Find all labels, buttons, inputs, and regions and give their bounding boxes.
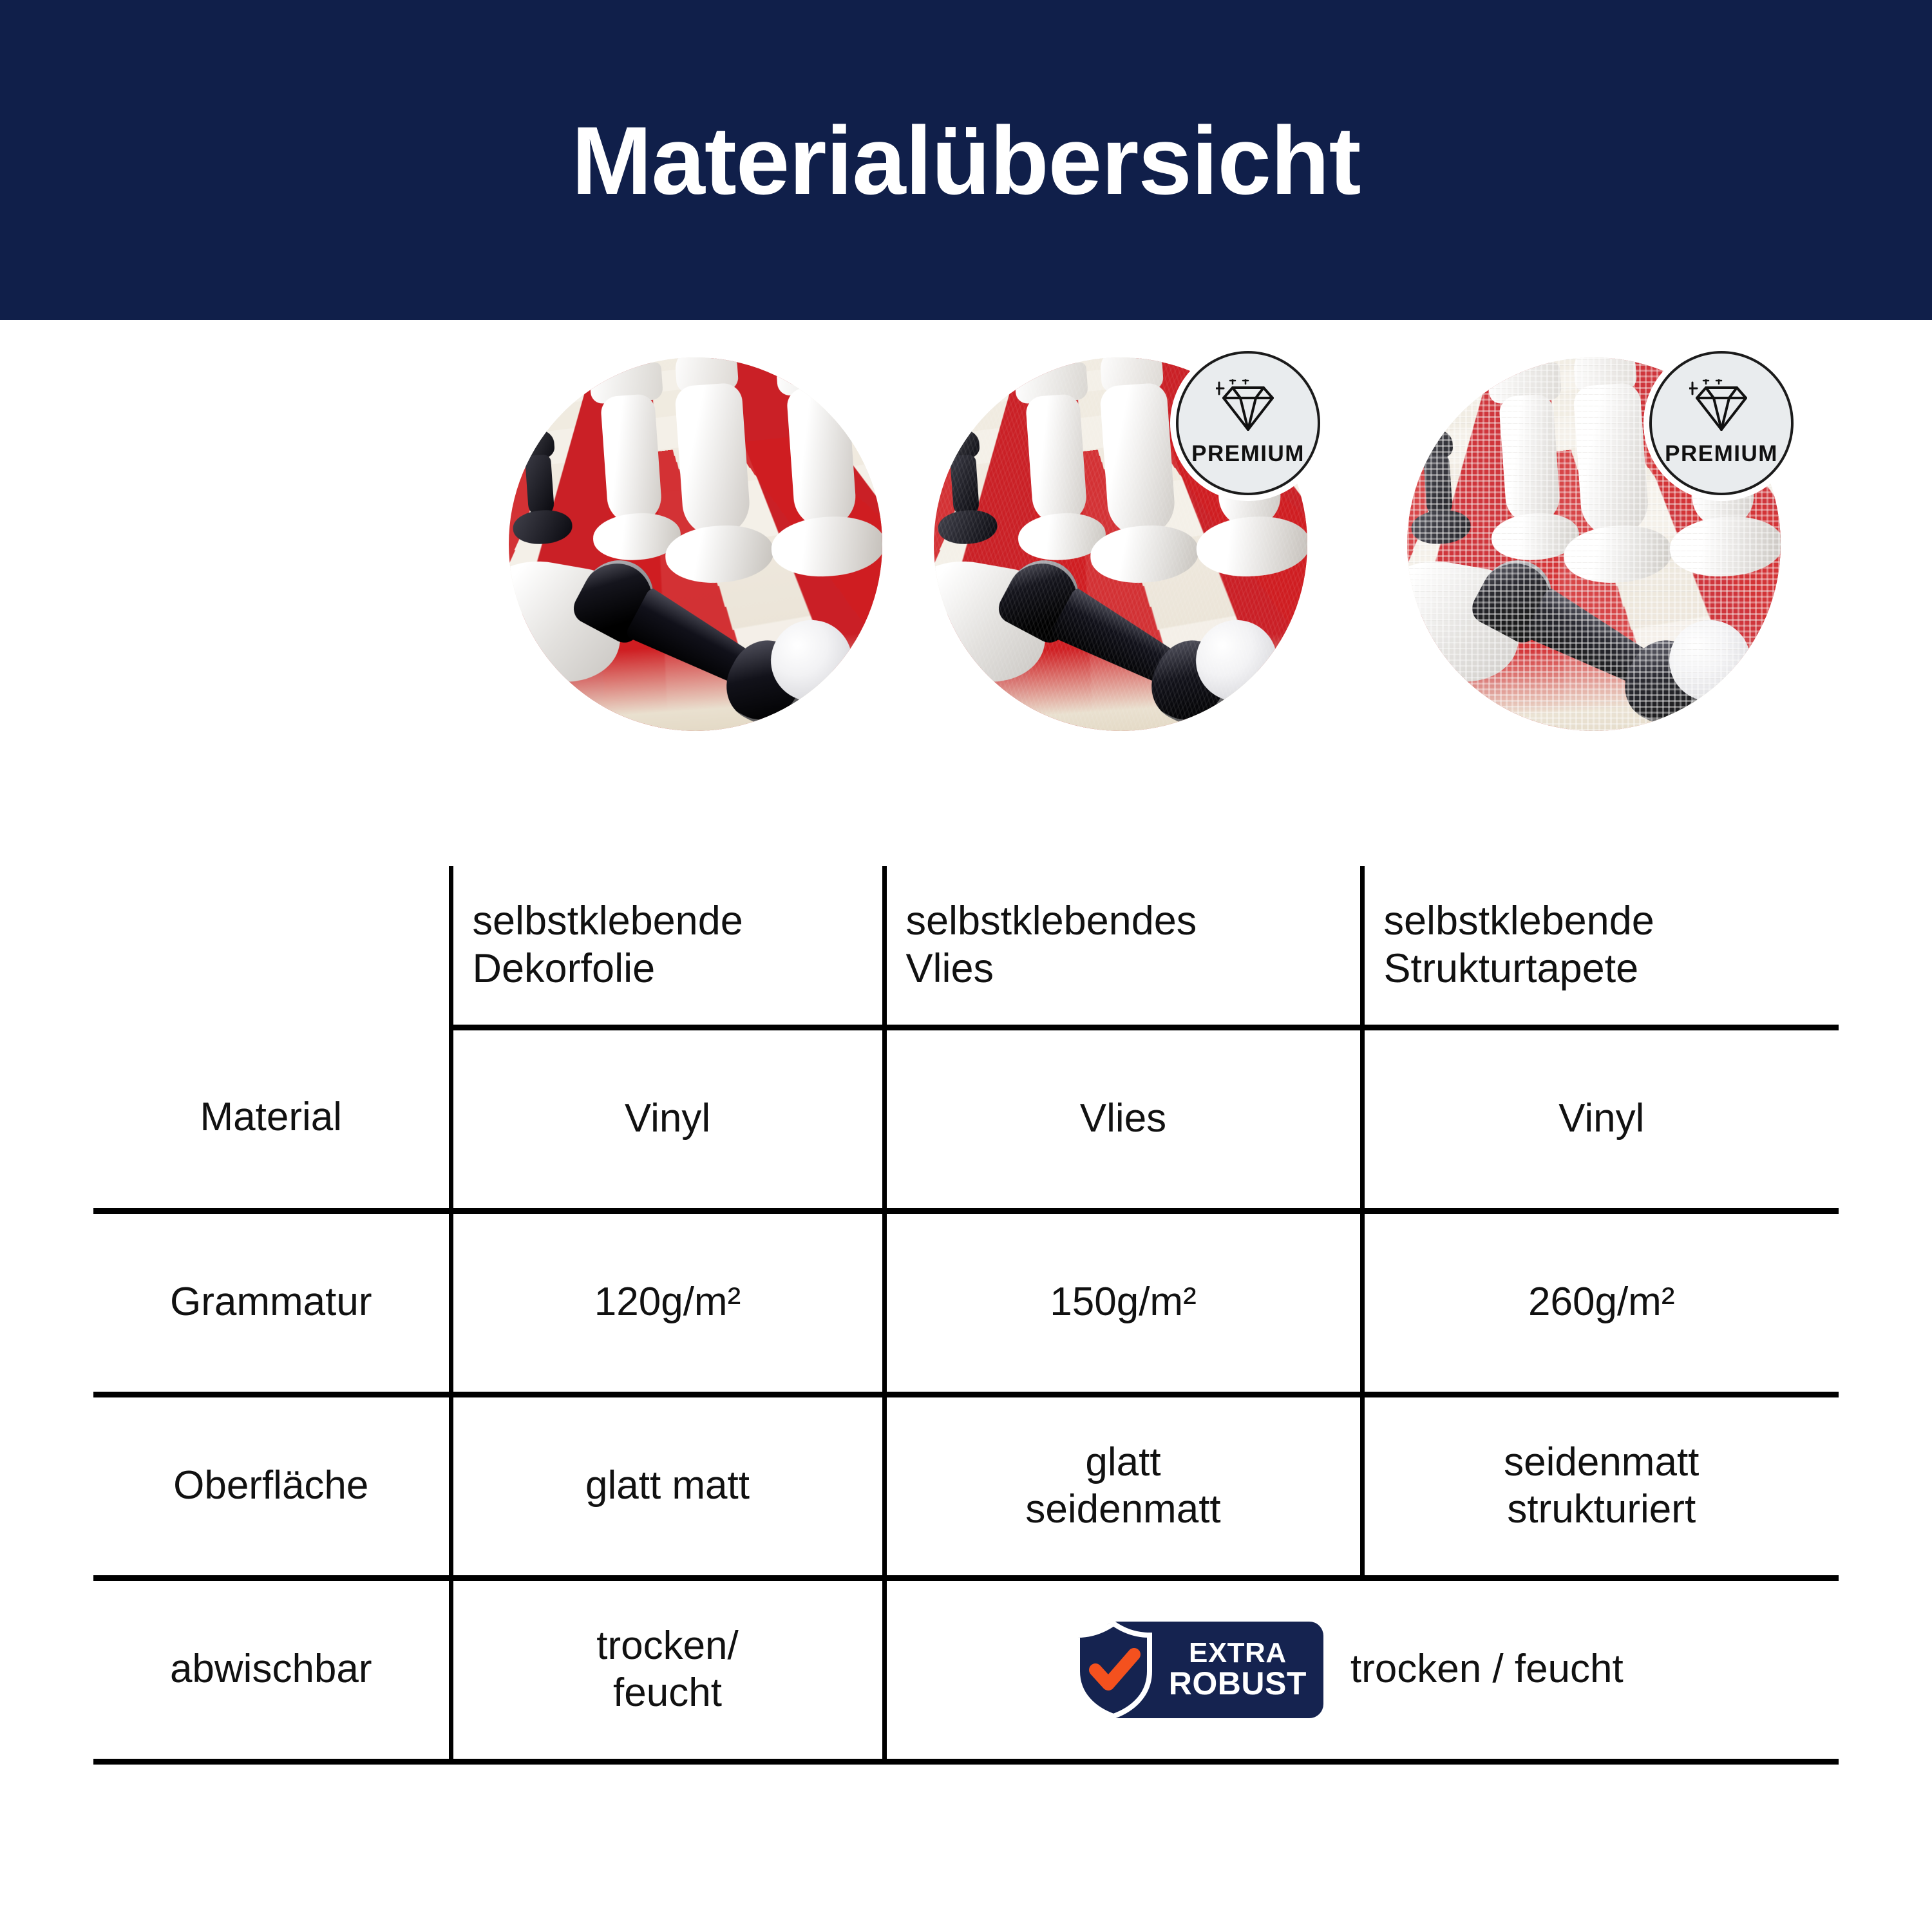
table-row-grammatur: Grammatur 120g/m² 150g/m² 260g/m² xyxy=(93,1211,1839,1394)
extra-robust-text: EXTRA ROBUST xyxy=(1169,1639,1307,1701)
premium-badge-label: PREMIUM xyxy=(1665,441,1778,467)
table-row-material: Material Vinyl Vlies Vinyl xyxy=(93,1027,1839,1211)
cell-grammatur-vlies: 150g/m² xyxy=(884,1211,1362,1394)
row-label-abwischbar: abwischbar xyxy=(93,1578,451,1761)
diamond-icon xyxy=(1689,379,1754,435)
cell-material-vlies: Vlies xyxy=(884,1027,1362,1211)
chess-scene-image-1 xyxy=(509,357,882,731)
cell-line2: strukturiert xyxy=(1374,1486,1830,1533)
table-row-oberflaeche: Oberfläche glatt matt glatt seidenmatt s… xyxy=(93,1394,1839,1578)
column-header-line2: Strukturtapete xyxy=(1384,945,1830,993)
extra-robust-line2: ROBUST xyxy=(1169,1667,1307,1700)
premium-badge-label: PREMIUM xyxy=(1191,441,1305,467)
cell-line1: seidenmatt xyxy=(1374,1439,1830,1486)
cell-oberflaeche-vlies: glatt seidenmatt xyxy=(884,1394,1362,1578)
page-title: Materialübersicht xyxy=(571,112,1360,209)
cell-line2: seidenmatt xyxy=(896,1486,1351,1533)
cell-oberflaeche-strukturtapete: seidenmatt strukturiert xyxy=(1362,1394,1839,1578)
table-header-row: selbstklebende Dekorfolie selbstklebende… xyxy=(93,866,1839,1027)
table-header-corner xyxy=(93,866,451,1027)
column-header-line1: selbstklebende xyxy=(473,898,873,945)
cell-abwischbar-dekorfolie: trocken/ feucht xyxy=(451,1578,884,1761)
cell-grammatur-dekorfolie: 120g/m² xyxy=(451,1211,884,1394)
robust-cell-content: EXTRA ROBUST trocken / feucht xyxy=(896,1622,1830,1718)
row-label-material: Material xyxy=(93,1027,451,1211)
column-header-dekorfolie: selbstklebende Dekorfolie xyxy=(451,866,884,1027)
white-rook-piece-right xyxy=(766,357,880,599)
cell-material-dekorfolie: Vinyl xyxy=(451,1027,884,1211)
material-overview-page: Materialübersicht xyxy=(0,0,1932,1932)
material-spec-table-wrapper: selbstklebende Dekorfolie selbstklebende… xyxy=(93,866,1839,1765)
thumbnail-vlies[interactable]: PREMIUM xyxy=(934,351,1314,737)
cell-abwischbar-merged-text: trocken / feucht xyxy=(1350,1646,1624,1693)
table-row-abwischbar: abwischbar trocken/ feucht xyxy=(93,1578,1839,1761)
thumbnail-strip: PREMIUM xyxy=(0,351,1932,763)
premium-badge: PREMIUM xyxy=(1176,351,1320,495)
page-header: Materialübersicht xyxy=(0,0,1932,320)
cell-material-strukturtapete: Vinyl xyxy=(1362,1027,1839,1211)
material-spec-table: selbstklebende Dekorfolie selbstklebende… xyxy=(93,866,1839,1765)
column-header-line2: Dekorfolie xyxy=(473,945,873,993)
row-label-oberflaeche: Oberfläche xyxy=(93,1394,451,1578)
cell-line2: feucht xyxy=(462,1670,873,1717)
column-header-vlies: selbstklebendes Vlies xyxy=(884,866,1362,1027)
column-header-line1: selbstklebendes xyxy=(906,898,1351,945)
diamond-icon xyxy=(1216,379,1280,435)
black-pawn-piece xyxy=(511,428,569,553)
shield-check-icon xyxy=(1072,1621,1155,1719)
chess-scene xyxy=(509,357,882,731)
cell-oberflaeche-dekorfolie: glatt matt xyxy=(451,1394,884,1578)
cell-grammatur-strukturtapete: 260g/m² xyxy=(1362,1211,1839,1394)
extra-robust-line1: EXTRA xyxy=(1169,1639,1307,1668)
column-header-line2: Vlies xyxy=(906,945,1351,993)
thumbnail-strukturtapete[interactable]: PREMIUM xyxy=(1407,351,1787,737)
cell-line1: trocken/ xyxy=(462,1623,873,1670)
cell-abwischbar-merged: EXTRA ROBUST trocken / feucht xyxy=(884,1578,1839,1761)
white-queen-piece xyxy=(656,357,770,596)
extra-robust-badge: EXTRA ROBUST xyxy=(1102,1622,1323,1718)
thumbnail-dekorfolie[interactable] xyxy=(509,351,889,737)
premium-badge: PREMIUM xyxy=(1649,351,1794,495)
row-label-grammatur: Grammatur xyxy=(93,1211,451,1394)
cell-line1: glatt xyxy=(896,1439,1351,1486)
column-header-line1: selbstklebende xyxy=(1384,898,1830,945)
column-header-strukturtapete: selbstklebende Strukturtapete xyxy=(1362,866,1839,1027)
